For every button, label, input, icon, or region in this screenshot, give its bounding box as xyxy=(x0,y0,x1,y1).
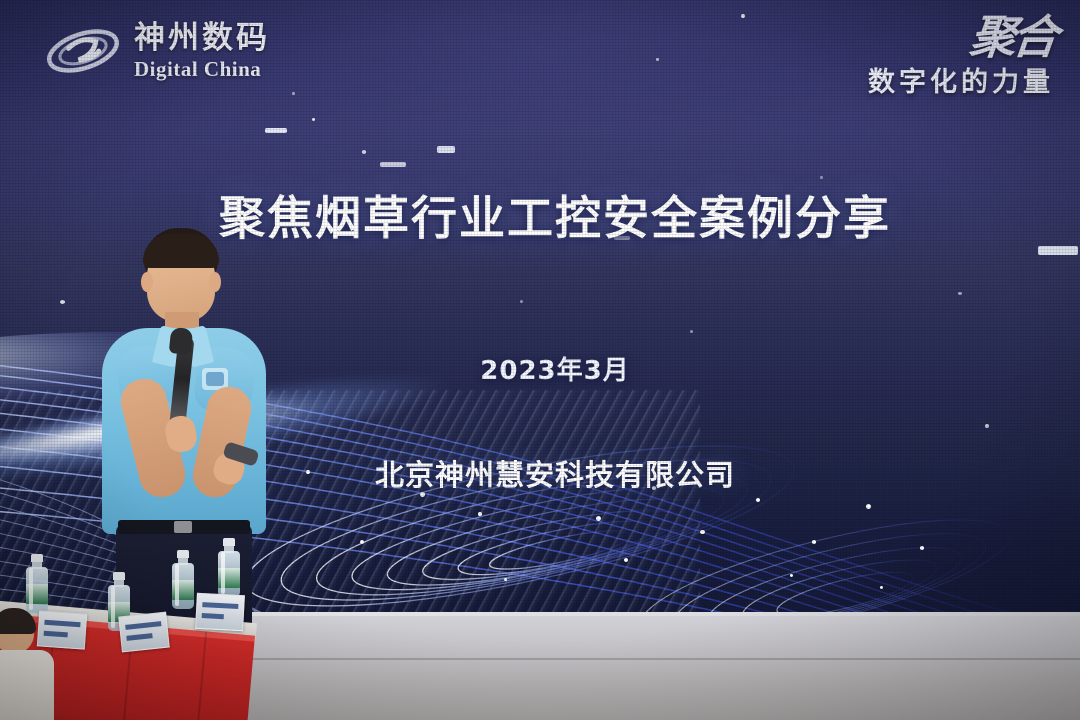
attendee-body xyxy=(0,650,54,720)
particle-dot xyxy=(312,118,315,121)
name-card-text-line xyxy=(125,621,161,630)
name-card xyxy=(195,593,245,631)
particle-dot xyxy=(741,14,745,18)
particle-dot xyxy=(520,300,523,303)
particle-dot xyxy=(60,300,65,304)
name-card xyxy=(118,612,170,653)
skirt-fold xyxy=(194,631,207,720)
particle-dot xyxy=(292,92,295,95)
speaker-belt-buckle xyxy=(174,521,192,533)
attendee-hair xyxy=(0,608,36,634)
bottle-highlight xyxy=(221,552,225,594)
speaker-ear-left xyxy=(141,272,153,292)
name-card-text-line xyxy=(202,602,238,609)
screenshot-root: 神州数码 Digital China 聚合 数字化的力量 聚焦烟草行业工控安全案… xyxy=(0,0,1080,720)
particle-streak xyxy=(380,162,406,167)
brand-name-en: Digital China xyxy=(134,59,270,80)
particle-dot xyxy=(362,150,366,154)
event-subtitle: 数字化的力量 xyxy=(868,60,1054,99)
particle-dot xyxy=(656,58,659,61)
microphone-icon xyxy=(169,327,194,355)
event-brand: 聚合 数字化的力量 xyxy=(868,16,1054,99)
speaker-shirt-logo-mark-icon xyxy=(206,372,224,386)
bottle-highlight xyxy=(29,568,33,610)
name-card-text-line xyxy=(126,633,152,641)
particle-streak xyxy=(437,146,455,153)
speaker-ear-right xyxy=(209,272,221,292)
seated-attendee xyxy=(0,612,58,720)
particle-streak xyxy=(265,128,287,133)
digital-china-swirl-icon xyxy=(44,22,122,80)
brand-name-cn: 神州数码 xyxy=(134,23,270,54)
digital-china-logo: 神州数码 Digital China xyxy=(44,22,270,80)
bottle-highlight xyxy=(111,586,115,628)
bottle-highlight xyxy=(175,564,179,606)
name-card-text-line xyxy=(202,613,224,619)
particle-dot xyxy=(820,176,823,179)
event-calligraphy: 聚合 xyxy=(968,16,1056,58)
particle-dot xyxy=(958,292,962,295)
digital-china-wordmark: 神州数码 Digital China xyxy=(134,23,270,80)
speaker-hair-front xyxy=(143,234,219,268)
